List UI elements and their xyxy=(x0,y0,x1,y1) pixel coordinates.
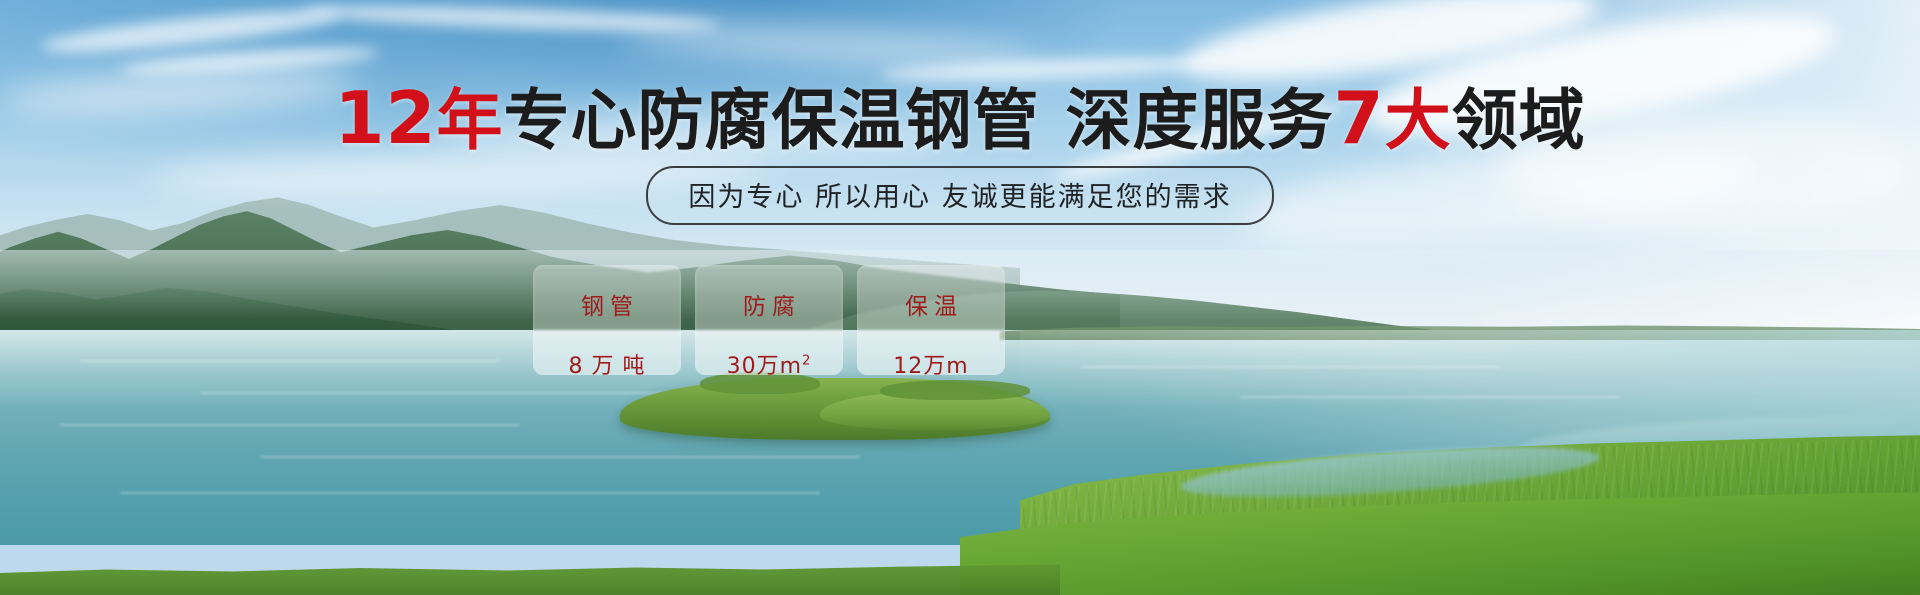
headline-years-unit: 年 xyxy=(437,82,504,159)
stat-card-value-main: 30万m xyxy=(727,354,802,379)
stat-card-value: 30万m2 xyxy=(727,348,812,380)
stat-cards: 钢管 8 万 吨 防腐 30万m2 保温 12万m xyxy=(533,265,1005,375)
stat-card-value-main: 12万m xyxy=(893,354,968,379)
stat-card-insulation[interactable]: 保温 12万m xyxy=(857,265,1005,375)
stat-card-steel-pipe[interactable]: 钢管 8 万 吨 xyxy=(533,265,681,375)
banner-content: 12年专心防腐保温钢管深度服务7大领域 因为专心 所以用心 友诚更能满足您的需求… xyxy=(0,0,1920,595)
headline-fields-text: 领域 xyxy=(1452,82,1586,159)
stat-card-value-superscript: 2 xyxy=(802,354,811,369)
stat-card-value-main: 8 万 吨 xyxy=(569,354,646,379)
headline-fields-number: 7 xyxy=(1334,76,1385,160)
stat-card-anticorrosion[interactable]: 防腐 30万m2 xyxy=(695,265,843,375)
subtitle-wrapper: 因为专心 所以用心 友诚更能满足您的需求 xyxy=(0,166,1920,225)
headline-service-text: 深度服务 xyxy=(1066,82,1334,159)
promo-banner: 12年专心防腐保温钢管深度服务7大领域 因为专心 所以用心 友诚更能满足您的需求… xyxy=(0,0,1920,595)
stat-card-value: 8 万 吨 xyxy=(569,348,646,380)
headline: 12年专心防腐保温钢管深度服务7大领域 xyxy=(0,82,1920,155)
stat-card-title: 防腐 xyxy=(737,287,801,321)
headline-years-number: 12 xyxy=(334,76,436,160)
stat-card-title: 保温 xyxy=(899,287,963,321)
subtitle-pill: 因为专心 所以用心 友诚更能满足您的需求 xyxy=(646,166,1273,225)
stat-card-value: 12万m xyxy=(893,348,968,380)
headline-fields-unit: 大 xyxy=(1385,82,1452,159)
stat-card-title: 钢管 xyxy=(575,287,639,321)
headline-main-text: 专心防腐保温钢管 xyxy=(504,82,1040,159)
